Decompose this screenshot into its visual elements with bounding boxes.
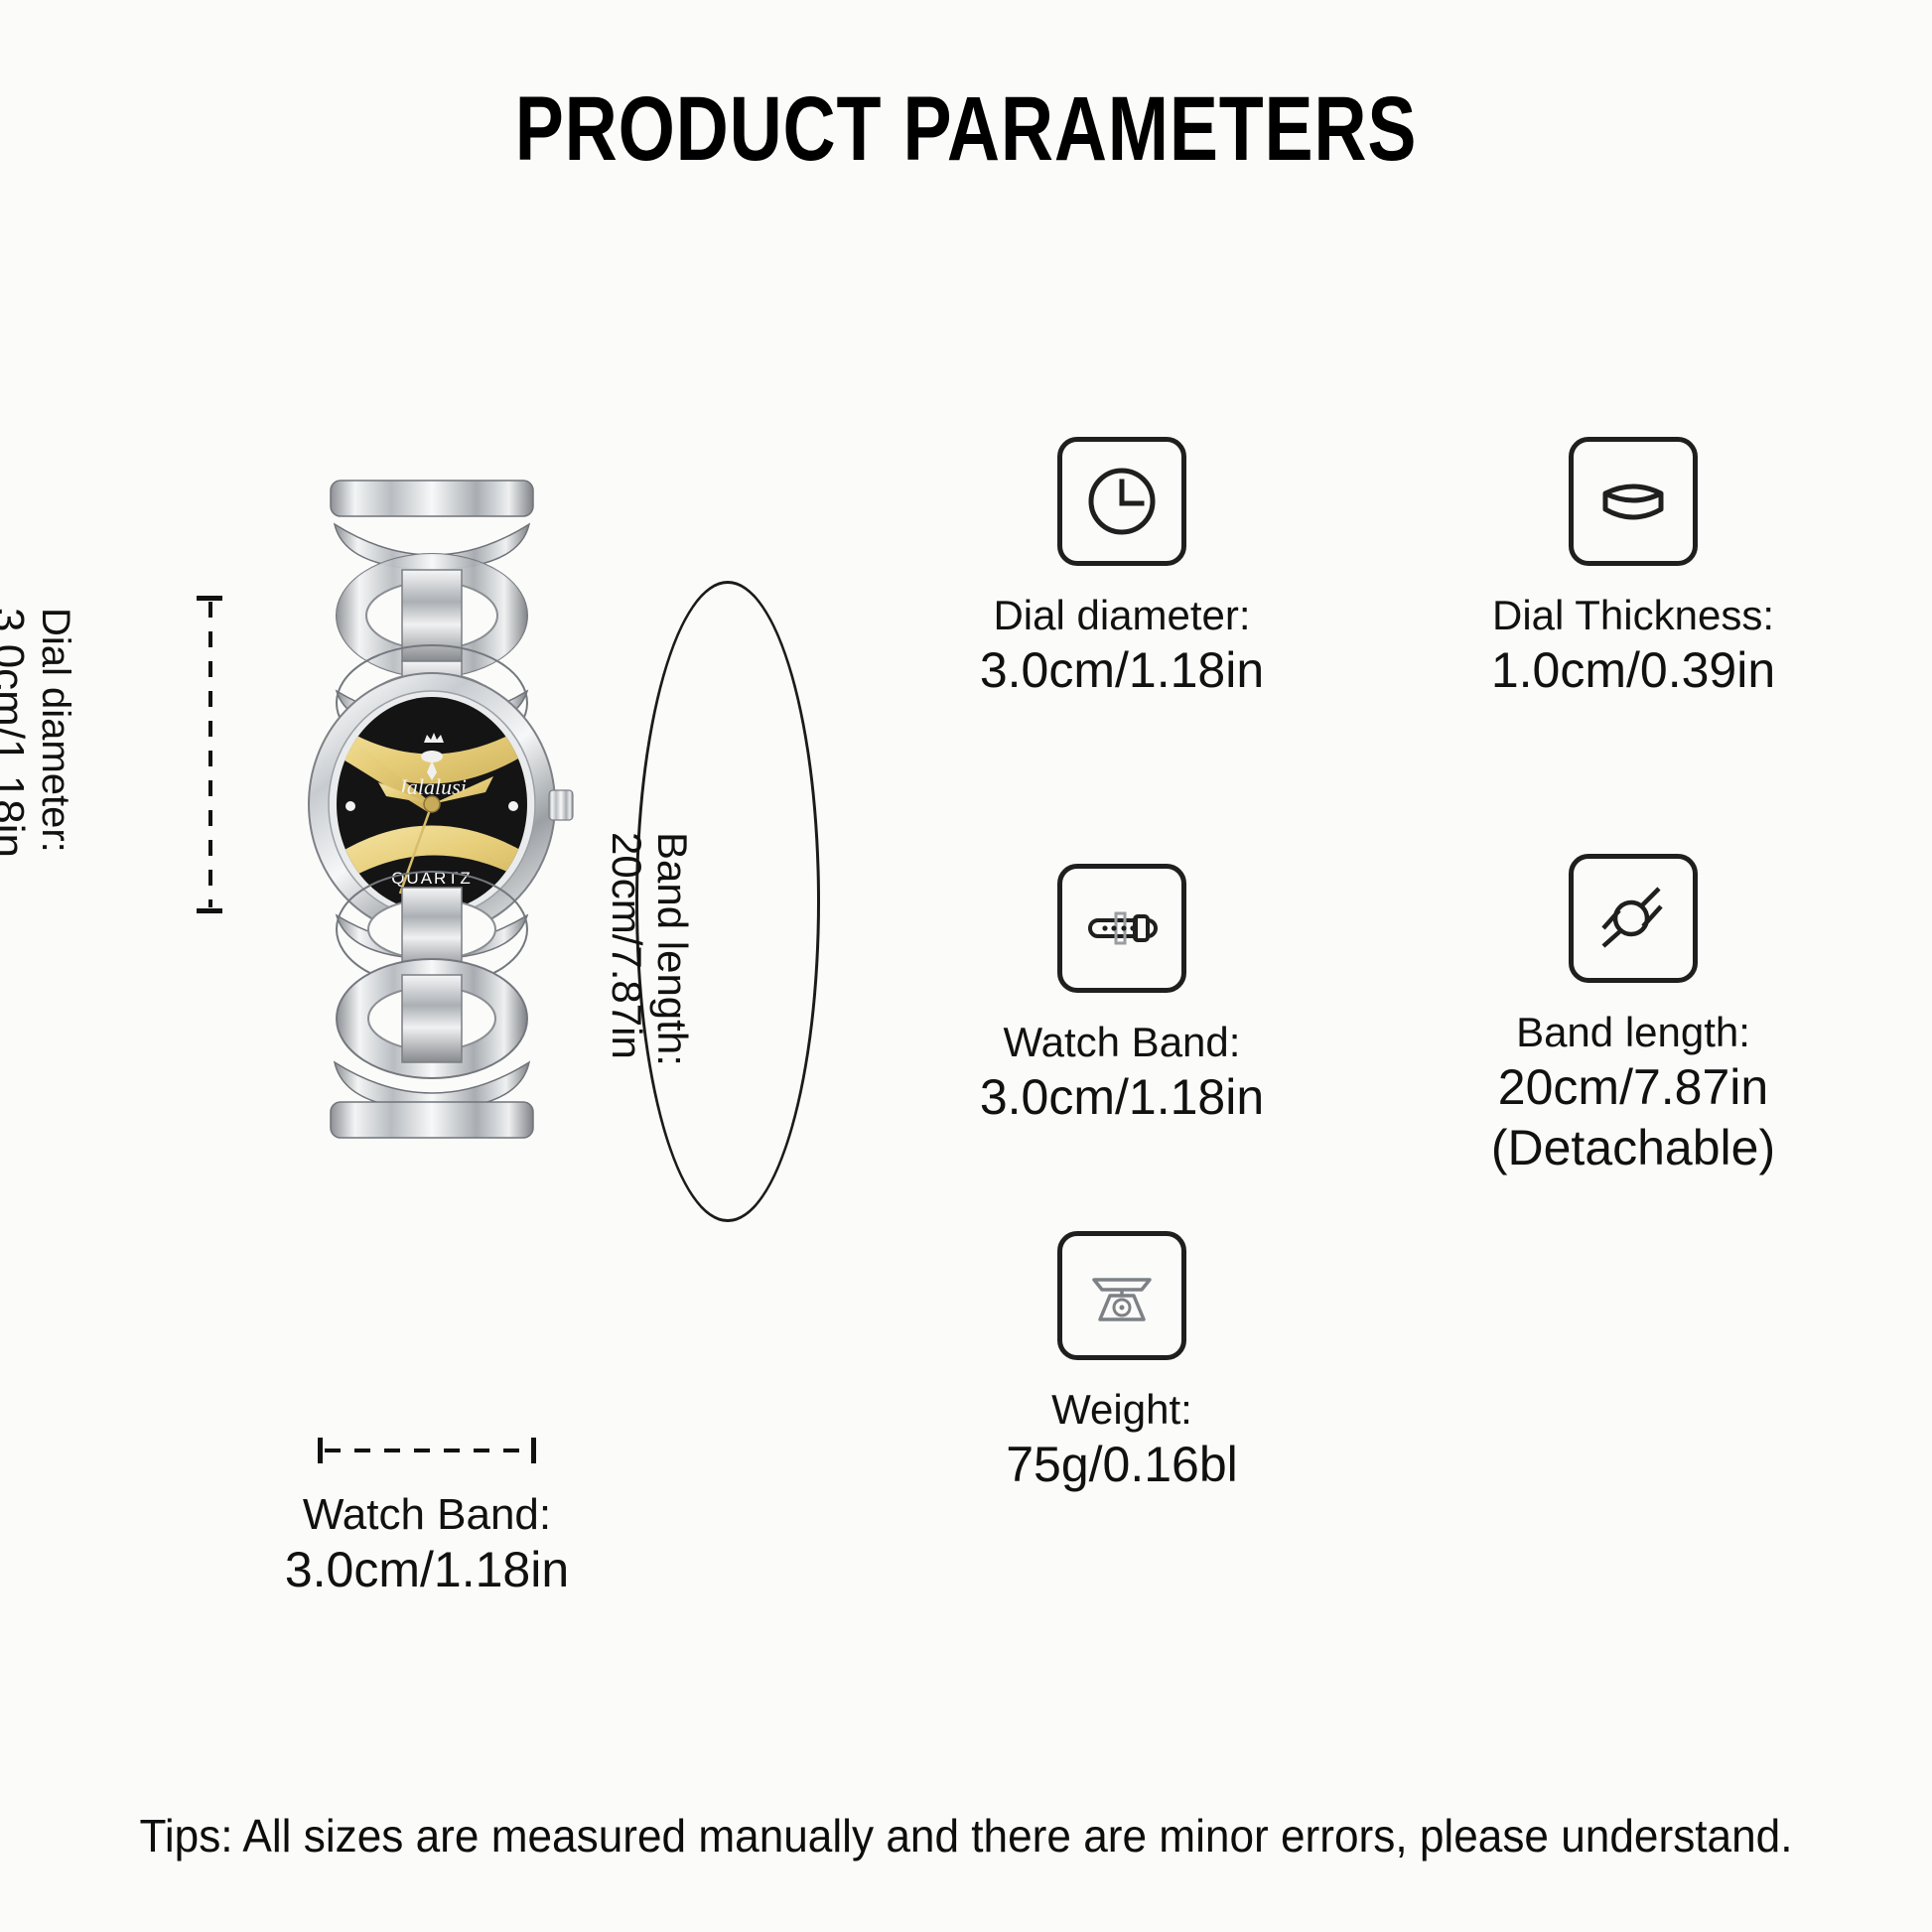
dial-diameter-callout-label: Dial diameter: 3.0cm/1.18in	[0, 608, 77, 915]
dimension-cap-bottom	[197, 908, 222, 913]
band-length-callout-label: Band length: 20cm/7.87in	[576, 832, 695, 1160]
dimension-cap-left	[318, 1438, 323, 1463]
dial-diameter-callout-title: Dial diameter:	[33, 608, 77, 915]
spec-label: Watch Band:	[913, 1017, 1330, 1067]
product-parameters-page: PRODUCT PARAMETERS Dial diameter: 3.0cm/…	[0, 0, 1932, 1932]
watch-band-callout-title: Watch Band:	[179, 1489, 675, 1541]
watch-crown-icon	[549, 790, 573, 820]
spec-item-dial-diameter: Dial diameter: 3.0cm/1.18in	[913, 437, 1330, 701]
spec-value: 3.0cm/1.18in	[913, 640, 1330, 701]
dimension-cap-top	[197, 596, 222, 601]
page-title: PRODUCT PARAMETERS	[194, 77, 1739, 182]
spec-label: Dial Thickness:	[1370, 590, 1896, 640]
dimension-cap-right	[531, 1438, 536, 1463]
spec-label: Weight:	[913, 1384, 1330, 1435]
spec-label: Band length:	[1370, 1007, 1896, 1057]
spec-label: Dial diameter:	[913, 590, 1330, 640]
spec-value: 1.0cm/0.39in	[1370, 640, 1896, 701]
spec-value-extra: (Detachable)	[1370, 1118, 1896, 1178]
spec-value: 75g/0.16bl	[913, 1435, 1330, 1495]
spec-item-watch-band: Watch Band: 3.0cm/1.18in	[913, 864, 1330, 1128]
kitchen-scale-icon	[1057, 1231, 1186, 1360]
band-length-callout-value: 20cm/7.87in	[604, 832, 649, 1160]
watch-illustration: Jalalusi QUARTZ	[283, 467, 581, 1142]
tips-text: Tips: All sizes are measured manually an…	[39, 1809, 1893, 1863]
watch-band-dimension-line-icon	[318, 1438, 536, 1463]
spec-value: 3.0cm/1.18in	[913, 1067, 1330, 1128]
disc-thickness-icon	[1569, 437, 1698, 566]
dial-diameter-dimension-line-icon	[197, 596, 222, 913]
strap-buckle-icon	[1057, 864, 1186, 993]
spec-item-dial-thickness: Dial Thickness: 1.0cm/0.39in	[1370, 437, 1896, 701]
spec-item-band-length: Band length: 20cm/7.87in (Detachable)	[1370, 854, 1896, 1178]
clock-icon	[1057, 437, 1186, 566]
spec-value: 20cm/7.87in	[1370, 1057, 1896, 1118]
band-length-callout-title: Band length:	[649, 832, 695, 1160]
watch-band-callout-label: Watch Band: 3.0cm/1.18in	[179, 1489, 675, 1599]
dial-diameter-callout-value: 3.0cm/1.18in	[0, 608, 33, 915]
spec-item-weight: Weight: 75g/0.16bl	[913, 1231, 1330, 1495]
watch-band-callout-value: 3.0cm/1.18in	[179, 1541, 675, 1599]
spec-grid: Dial diameter: 3.0cm/1.18in Dial Thickne…	[894, 437, 1916, 1559]
watch-strap-diagonal-icon	[1569, 854, 1698, 983]
watch-svg: Jalalusi QUARTZ	[283, 467, 581, 1142]
dimension-dashed-line	[208, 602, 212, 907]
dimension-dashed-line	[325, 1449, 529, 1452]
